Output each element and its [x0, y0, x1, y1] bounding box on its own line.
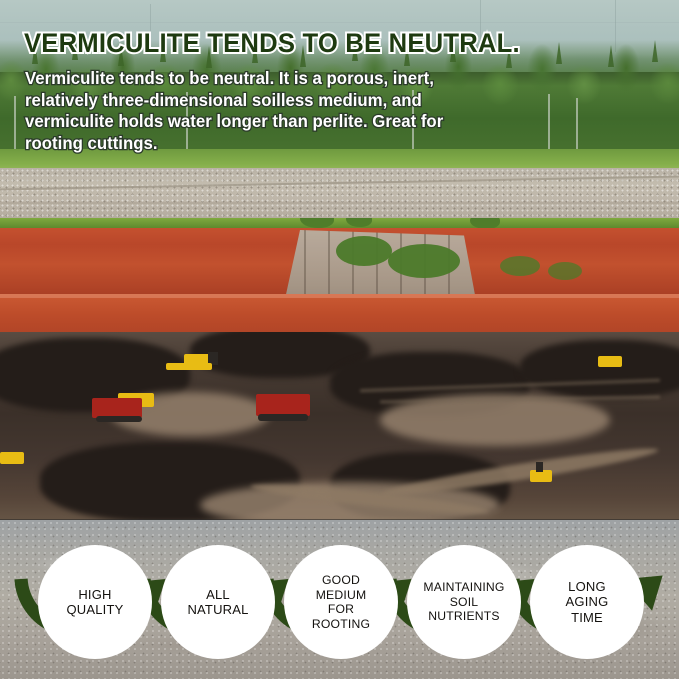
pit-bush-b [388, 244, 460, 278]
poster: VERMICULITE TENDS TO BE NEUTRAL. Vermicu… [0, 0, 679, 679]
dump-truck-red-center [256, 394, 310, 416]
pit-bush-c [500, 256, 540, 276]
dump-truck-left-wheels [96, 416, 142, 422]
gravel-terrace-layer [0, 168, 679, 224]
flow-node-good-medium[interactable]: GOODMEDIUMFORROOTING [284, 545, 398, 659]
flow-node-all-natural[interactable]: ALLNATURAL [161, 545, 275, 659]
excavator-track-left [166, 363, 212, 370]
dump-truck-center-wheels [258, 414, 308, 421]
process-flow: HIGHQUALITY ALLNATURAL GOODMEDIUMFORROOT… [0, 520, 679, 679]
pit-bush-a [336, 236, 392, 266]
dump-truck-red-left [92, 398, 142, 418]
flow-node-label: ALLNATURAL [179, 587, 256, 618]
flow-node-label: HIGHQUALITY [58, 587, 131, 618]
excavator-bottom-boom [536, 462, 543, 472]
flow-node-label: LONGAGINGTIME [558, 579, 617, 626]
flow-node-soil-nutrients[interactable]: MAINTAININGSOILNUTRIENTS [407, 545, 521, 659]
flow-node-high-quality[interactable]: HIGHQUALITY [38, 545, 152, 659]
rock-pit-layer [0, 332, 679, 527]
body-copy: Vermiculite tends to be neutral. It is a… [25, 68, 476, 154]
flow-node-long-aging[interactable]: LONGAGINGTIME [530, 545, 644, 659]
pit-bush-d [548, 262, 582, 280]
page-title: VERMICULITE TENDS TO BE NEUTRAL. [24, 28, 520, 59]
excavator-yellow-right [598, 356, 622, 367]
machine-edge-left [0, 452, 24, 464]
flow-node-label: MAINTAININGSOILNUTRIENTS [415, 580, 512, 624]
flow-node-label: GOODMEDIUMFORROOTING [304, 573, 378, 631]
